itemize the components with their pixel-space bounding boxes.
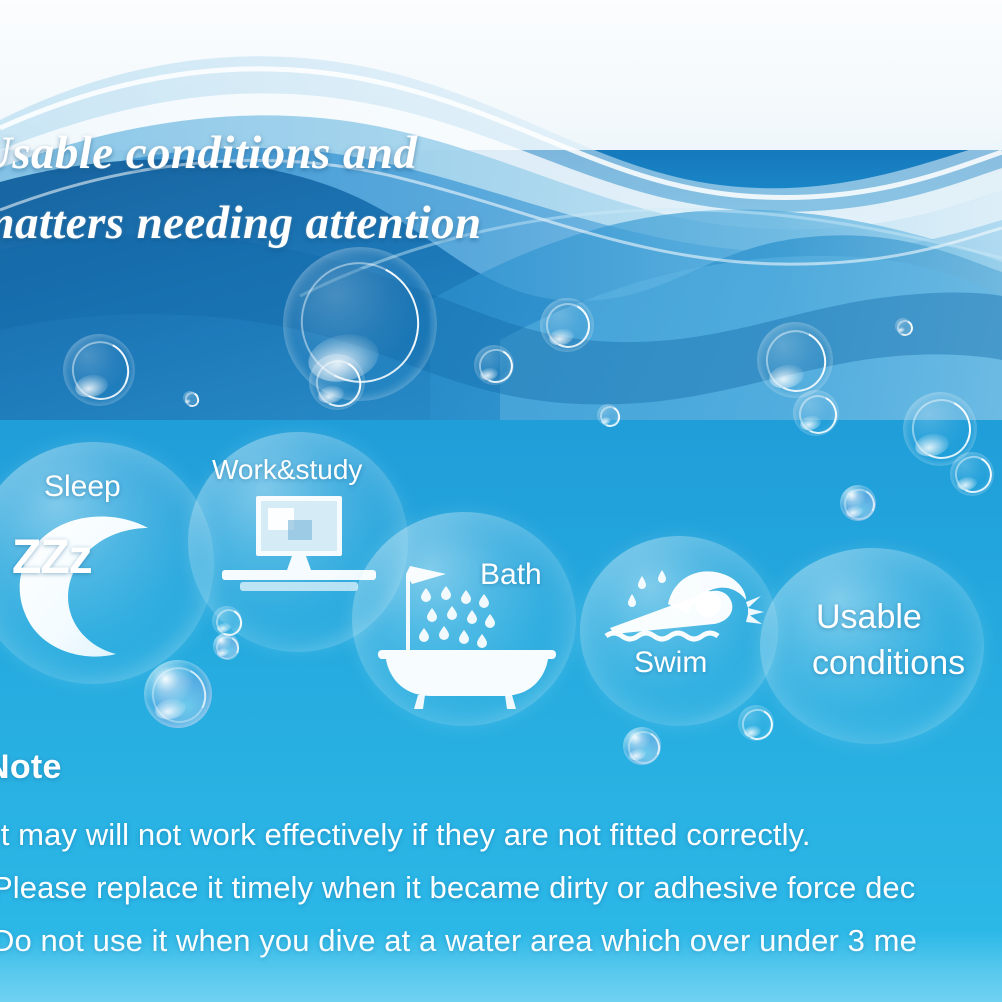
bubble-swim-label: Swim xyxy=(634,646,707,680)
underwater-banner: Usable conditions and matters needing at… xyxy=(0,0,1002,1002)
sleep-zzz-badge: ZZz xyxy=(12,530,92,585)
desktop-monitor-icon xyxy=(216,494,381,599)
note-line-1: It may will not work effectively if they… xyxy=(0,808,1002,861)
bubble-work-study-label: Work&study xyxy=(212,454,362,486)
bottom-haze xyxy=(0,932,1002,1002)
page-title: Usable conditions and matters needing at… xyxy=(0,118,718,258)
bubble-bath[interactable]: Bath xyxy=(352,512,576,726)
bubble-sleep-label: Sleep xyxy=(44,470,121,504)
bubble-usable-conditions[interactable]: Usable conditions xyxy=(760,548,984,744)
bubble-swim[interactable]: Swim xyxy=(580,536,778,726)
bubble-usable-conditions-label-line1: Usable xyxy=(816,598,922,637)
swimmer-icon xyxy=(604,556,770,648)
title-line-1: Usable conditions and xyxy=(0,118,718,188)
title-line-2: matters needing attention xyxy=(0,188,718,258)
bubble-usable-conditions-label-line2: conditions xyxy=(812,644,965,683)
note-line-2: Please replace it timely when it became … xyxy=(0,861,1002,914)
bubble-bath-label: Bath xyxy=(480,558,542,592)
note-heading: Note xyxy=(0,748,62,787)
